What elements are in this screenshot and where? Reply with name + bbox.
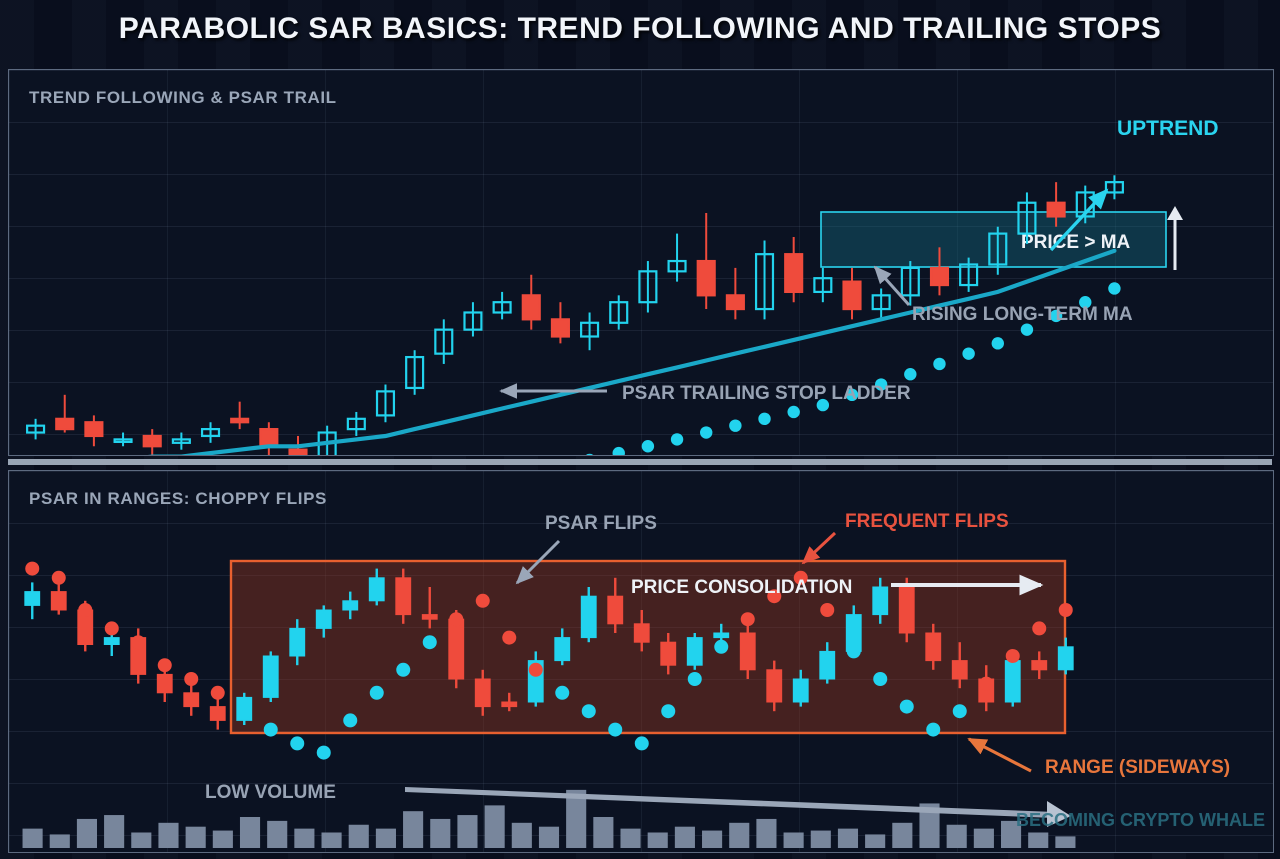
psar-dot <box>449 612 463 626</box>
candlestick <box>610 295 627 329</box>
volume-bar <box>702 831 722 848</box>
page-title: PARABOLIC SAR BASICS: TREND FOLLOWING AN… <box>0 12 1280 46</box>
candlestick <box>377 385 394 423</box>
psar-dot <box>661 704 675 718</box>
psar-dot <box>1108 282 1120 294</box>
low-volume-label: LOW VOLUME <box>205 782 336 803</box>
psar-dot <box>1021 323 1033 335</box>
candlestick <box>552 302 569 343</box>
volume-bar <box>811 831 831 848</box>
infographic-root: PARABOLIC SAR BASICS: TREND FOLLOWING AN… <box>0 0 1280 859</box>
volume-bar <box>1028 833 1048 849</box>
candlestick <box>1106 175 1123 199</box>
psar-dot <box>787 406 799 418</box>
psar-dot <box>1059 603 1073 617</box>
chart-bottom-svg: PSAR FLIPSFREQUENT FLIPSPRICE CONSOLIDAT… <box>9 471 1273 852</box>
psar-dot <box>131 635 145 649</box>
psar-ladder-label: PSAR TRAILING STOP LADDER <box>622 383 911 404</box>
candlestick <box>115 433 132 447</box>
candlestick <box>698 213 715 309</box>
psar-dot <box>423 635 437 649</box>
psar-dot <box>555 686 569 700</box>
candlestick <box>464 302 481 336</box>
psar-dot <box>237 704 251 718</box>
psar-dot <box>583 454 595 456</box>
volume-bar <box>158 823 178 848</box>
price-above-ma-box: PRICE > MA <box>821 212 1166 267</box>
psar-dot <box>904 368 916 380</box>
watermark: BECOMING CRYPTO WHALE <box>1016 810 1265 830</box>
volume-bar <box>784 833 804 849</box>
panel-psar-ranges: PSAR IN RANGES: CHOPPY FLIPS PSAR FLIPSF… <box>8 470 1274 853</box>
candlestick <box>756 240 773 319</box>
psar-dot <box>184 672 198 686</box>
candlestick <box>785 237 802 302</box>
candlestick <box>25 582 40 619</box>
psar-dot <box>820 603 834 617</box>
candlestick <box>144 429 161 456</box>
candlestick <box>523 275 540 330</box>
candlestick <box>814 268 831 302</box>
candlestick <box>494 292 511 319</box>
psar-flips-label: PSAR FLIPS <box>545 513 657 534</box>
candlestick <box>727 268 744 319</box>
candlestick <box>27 419 44 440</box>
psar-dot <box>370 686 384 700</box>
volume-bar <box>376 829 396 848</box>
candlestick <box>104 633 119 656</box>
candlestick <box>260 422 277 456</box>
range-sideways-arrow <box>969 739 1031 771</box>
up-arrow-icon <box>1167 206 1183 270</box>
volume-bar <box>620 829 640 848</box>
uptrend-label: UPTREND <box>1117 117 1219 140</box>
psar-dot <box>1006 649 1020 663</box>
rising-ma-arrow <box>875 267 909 305</box>
volume-bar <box>947 825 967 848</box>
volume-bar <box>648 833 668 849</box>
volume-bar <box>50 834 70 848</box>
candlestick <box>85 415 102 446</box>
panel-separator <box>8 459 1272 465</box>
candlestick <box>406 350 423 395</box>
psar-dot <box>758 413 770 425</box>
psar-dot <box>264 723 278 737</box>
candlestick <box>639 261 656 312</box>
volume-bar <box>1055 836 1075 848</box>
psar-dot <box>52 571 66 585</box>
volume-bar <box>838 829 858 848</box>
volume-bar <box>756 819 776 848</box>
psar-dot <box>900 700 914 714</box>
volume-bar <box>131 833 151 849</box>
psar-dot <box>847 644 861 658</box>
volume-bar <box>322 833 342 849</box>
volume-bar <box>865 834 885 848</box>
moving-average-line <box>36 251 1115 456</box>
candlestick <box>899 578 914 642</box>
psar-dot <box>502 631 516 645</box>
psar-dot <box>105 621 119 635</box>
psar-dot <box>78 603 92 617</box>
candlestick <box>263 651 278 702</box>
volume-bar <box>539 827 559 848</box>
psar-dot <box>700 426 712 438</box>
candlestick <box>202 422 219 443</box>
volume-bar <box>729 823 749 848</box>
psar-dot <box>671 433 683 445</box>
volume-bar <box>186 827 206 848</box>
psar-dot <box>933 358 945 370</box>
psar-dot <box>529 663 543 677</box>
volume-bar <box>485 805 505 848</box>
chart-top-svg: PRICE > MAUPTRENDRISING LONG-TERM MAPSAR… <box>9 70 1273 455</box>
psar-dot <box>158 658 172 672</box>
candlestick <box>231 402 248 429</box>
frequent-flips-arrow <box>803 533 835 563</box>
psar-dot <box>613 447 625 456</box>
volume-bar <box>430 819 450 848</box>
psar-dot <box>1032 621 1046 635</box>
candlestick <box>173 433 190 450</box>
psar-dot <box>979 677 993 691</box>
volume-bar <box>77 819 97 848</box>
psar-dot <box>992 337 1004 349</box>
volume-bar <box>403 811 423 848</box>
volume-bar <box>675 827 695 848</box>
candlestick <box>873 288 890 319</box>
volume-bar <box>294 829 314 848</box>
volume-bar <box>267 821 287 848</box>
candlestick <box>687 633 702 670</box>
candlestick <box>184 684 199 716</box>
psar-dot <box>714 640 728 654</box>
panel-top-label: TREND FOLLOWING & PSAR TRAIL <box>29 88 337 108</box>
volume-bar <box>593 817 613 848</box>
range-sideways-label: RANGE (SIDEWAYS) <box>1045 757 1230 778</box>
candlestick <box>210 697 225 729</box>
psar-dot <box>688 672 702 686</box>
psar-dot <box>608 723 622 737</box>
psar-dot <box>642 440 654 452</box>
rising-ma-label: RISING LONG-TERM MA <box>912 304 1133 325</box>
psar-dot <box>25 562 39 576</box>
volume-bar <box>349 825 369 848</box>
psar-dot <box>873 672 887 686</box>
volume-bar <box>104 815 124 848</box>
candlestick <box>348 412 365 436</box>
psar-dot <box>476 594 490 608</box>
psar-dot <box>211 686 225 700</box>
psar-dot <box>582 704 596 718</box>
panel-trend-following: TREND FOLLOWING & PSAR TRAIL PRICE > MAU… <box>8 69 1274 456</box>
psar-dot <box>290 736 304 750</box>
panel-bottom-label: PSAR IN RANGES: CHOPPY FLIPS <box>29 489 327 509</box>
psar-dot <box>635 736 649 750</box>
price-consolidation-label: PRICE CONSOLIDATION <box>631 577 852 598</box>
volume-bar <box>512 823 532 848</box>
volume-bar <box>457 815 477 848</box>
low-volume-annotation: LOW VOLUME <box>205 782 1071 827</box>
psar-dot <box>962 347 974 359</box>
candlestick <box>581 312 598 350</box>
candlestick <box>669 234 686 282</box>
candlestick <box>844 268 861 319</box>
range-sideways-annotation: RANGE (SIDEWAYS) <box>969 739 1230 778</box>
volume-bar <box>23 829 43 848</box>
psar-dot <box>729 419 741 431</box>
frequent-flips-label: FREQUENT FLIPS <box>845 511 1009 532</box>
volume-bar <box>213 831 233 848</box>
frequent-flips-annotation: FREQUENT FLIPS <box>803 511 1009 563</box>
volume-bar <box>240 817 260 848</box>
psar-dot <box>317 746 331 760</box>
candlestick <box>56 395 73 433</box>
psar-dot <box>343 713 357 727</box>
volume-bar <box>892 823 912 848</box>
psar-dot <box>396 663 410 677</box>
candlestick <box>435 319 452 364</box>
psar-dot <box>953 704 967 718</box>
psar-dot <box>926 723 940 737</box>
psar-dot <box>741 612 755 626</box>
volume-bar <box>974 829 994 848</box>
volume-series <box>23 790 1076 848</box>
